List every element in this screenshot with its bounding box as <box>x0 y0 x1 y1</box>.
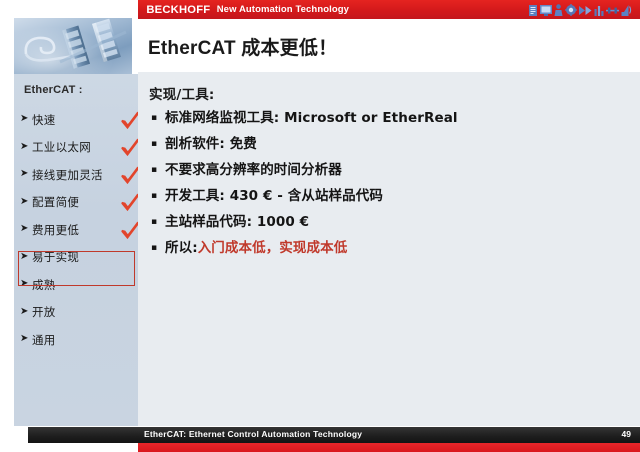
bullet-item: ▪所以:入门成本低，实现成本低 <box>149 238 629 264</box>
content-heading: 实现/工具: <box>149 83 215 103</box>
bullet-text: 开发工具: 430 € - 含从站样品代码 <box>165 186 383 206</box>
brand-header-bar: BECKHOFF New Automation Technology <box>138 0 640 19</box>
arrow-bullet-icon: ➤ <box>20 306 32 317</box>
beckhoff-logo: BECKHOFF <box>146 4 210 16</box>
bullet-text: 不要求高分辨率的时间分析器 <box>165 160 342 180</box>
arrow-bullet-icon: ➤ <box>20 333 32 344</box>
sidebar-item[interactable]: ➤费用更低 <box>20 216 138 244</box>
sidebar-item[interactable]: ➤接线更加灵活 <box>20 161 138 189</box>
square-bullet-icon: ▪ <box>149 212 165 232</box>
arrow-bullet-icon: ➤ <box>20 278 32 289</box>
sidebar-item-label: 快速 <box>32 112 56 128</box>
sidebar-item-label: 接线更加灵活 <box>32 167 103 183</box>
bullet-text-main: 剖析软件: 免费 <box>165 136 257 152</box>
sidebar-item-label: 工业以太网 <box>32 139 91 155</box>
check-icon <box>120 166 140 186</box>
bullet-item: ▪主站样品代码: 1000 € <box>149 212 629 238</box>
bullet-text: 主站样品代码: 1000 € <box>165 212 309 232</box>
sidebar-item-label: 通用 <box>32 332 56 348</box>
bullet-text-main: 标准网络监视工具: Microsoft or EtherReal <box>165 110 458 126</box>
brand-tagline: New Automation Technology <box>217 4 349 15</box>
bullet-text-main: 所以: <box>165 240 198 256</box>
sidebar-item[interactable]: ➤易于实现 <box>20 244 138 272</box>
sidebar-item-label: 配置简便 <box>32 194 79 210</box>
square-bullet-icon: ▪ <box>149 134 165 154</box>
sidebar-item[interactable]: ➤快速 <box>20 106 138 134</box>
title-area: EtherCAT 成本更低！ <box>138 19 640 72</box>
bullet-text-main: 不要求高分辨率的时间分析器 <box>165 162 342 178</box>
square-bullet-icon: ▪ <box>149 186 165 206</box>
footer-accent-strip <box>138 443 640 452</box>
bullet-text: 标准网络监视工具: Microsoft or EtherReal <box>165 108 458 128</box>
arrow-bullet-icon: ➤ <box>20 113 32 124</box>
page-title: EtherCAT 成本更低！ <box>148 33 337 60</box>
gear-person-icon <box>565 4 577 16</box>
footer-bar: EtherCAT: Ethernet Control Automation Te… <box>28 427 640 443</box>
top-left-gutter <box>0 0 138 18</box>
arrow-bullet-icon: ➤ <box>20 141 32 152</box>
arrow-bullet-icon: ➤ <box>20 251 32 262</box>
sidebar-item[interactable]: ➤成熟 <box>20 271 138 299</box>
check-icon <box>120 221 140 241</box>
bullet-text: 所以:入门成本低，实现成本低 <box>165 238 347 258</box>
sidebar-item-list: ➤快速➤工业以太网➤接线更加灵活➤配置简便➤费用更低➤易于实现➤成熟➤开放➤通用 <box>20 106 138 354</box>
ethercat-terminals-photo <box>14 18 132 74</box>
sidebar-item[interactable]: ➤开放 <box>20 299 138 327</box>
bullet-item: ▪不要求高分辨率的时间分析器 <box>149 160 629 186</box>
document-icon <box>528 5 538 16</box>
bullet-item: ▪剖析软件: 免费 <box>149 134 629 160</box>
bullet-list: ▪标准网络监视工具: Microsoft or EtherReal▪剖析软件: … <box>149 108 629 264</box>
arrow-bullet-icon: ➤ <box>20 196 32 207</box>
sidebar: EtherCAT : ➤快速➤工业以太网➤接线更加灵活➤配置简便➤费用更低➤易于… <box>14 74 138 426</box>
sidebar-item[interactable]: ➤配置简便 <box>20 189 138 217</box>
bullet-item: ▪开发工具: 430 € - 含从站样品代码 <box>149 186 629 212</box>
sidebar-item-label: 易于实现 <box>32 249 79 265</box>
fast-forward-icon <box>579 5 592 16</box>
check-icon <box>120 193 140 213</box>
footer-text: EtherCAT: Ethernet Control Automation Te… <box>144 429 362 439</box>
bullet-text-accent: 入门成本低，实现成本低 <box>198 240 348 256</box>
check-icon <box>120 111 140 131</box>
header-icon-group <box>528 3 632 16</box>
sidebar-heading: EtherCAT : <box>24 84 83 96</box>
bullet-text: 剖析软件: 免费 <box>165 134 257 154</box>
check-icon <box>120 138 140 158</box>
sidebar-item[interactable]: ➤工业以太网 <box>20 134 138 162</box>
signal-icon <box>621 4 632 16</box>
sidebar-item-label: 费用更低 <box>32 222 79 238</box>
sidebar-item-label: 成熟 <box>32 277 56 293</box>
square-bullet-icon: ▪ <box>149 238 165 258</box>
square-bullet-icon: ▪ <box>149 160 165 180</box>
bullet-item: ▪标准网络监视工具: Microsoft or EtherReal <box>149 108 629 134</box>
monitor-icon <box>540 5 552 16</box>
bullet-text-main: 主站样品代码: 1000 € <box>165 214 309 230</box>
slide-root: BECKHOFF New Automation Technology <box>0 0 640 452</box>
sidebar-item-label: 开放 <box>32 304 56 320</box>
sidebar-item[interactable]: ➤通用 <box>20 326 138 354</box>
arrow-bullet-icon: ➤ <box>20 223 32 234</box>
slider-icon <box>606 5 619 16</box>
chart-bars-icon <box>594 5 604 16</box>
page-number: 49 <box>622 429 631 439</box>
bullet-text-main: 开发工具: 430 € - 含从站样品代码 <box>165 188 383 204</box>
content-panel: 实现/工具: ▪标准网络监视工具: Microsoft or EtherReal… <box>138 72 640 426</box>
arrow-bullet-icon: ➤ <box>20 168 32 179</box>
person-icon <box>554 4 563 16</box>
square-bullet-icon: ▪ <box>149 108 165 128</box>
